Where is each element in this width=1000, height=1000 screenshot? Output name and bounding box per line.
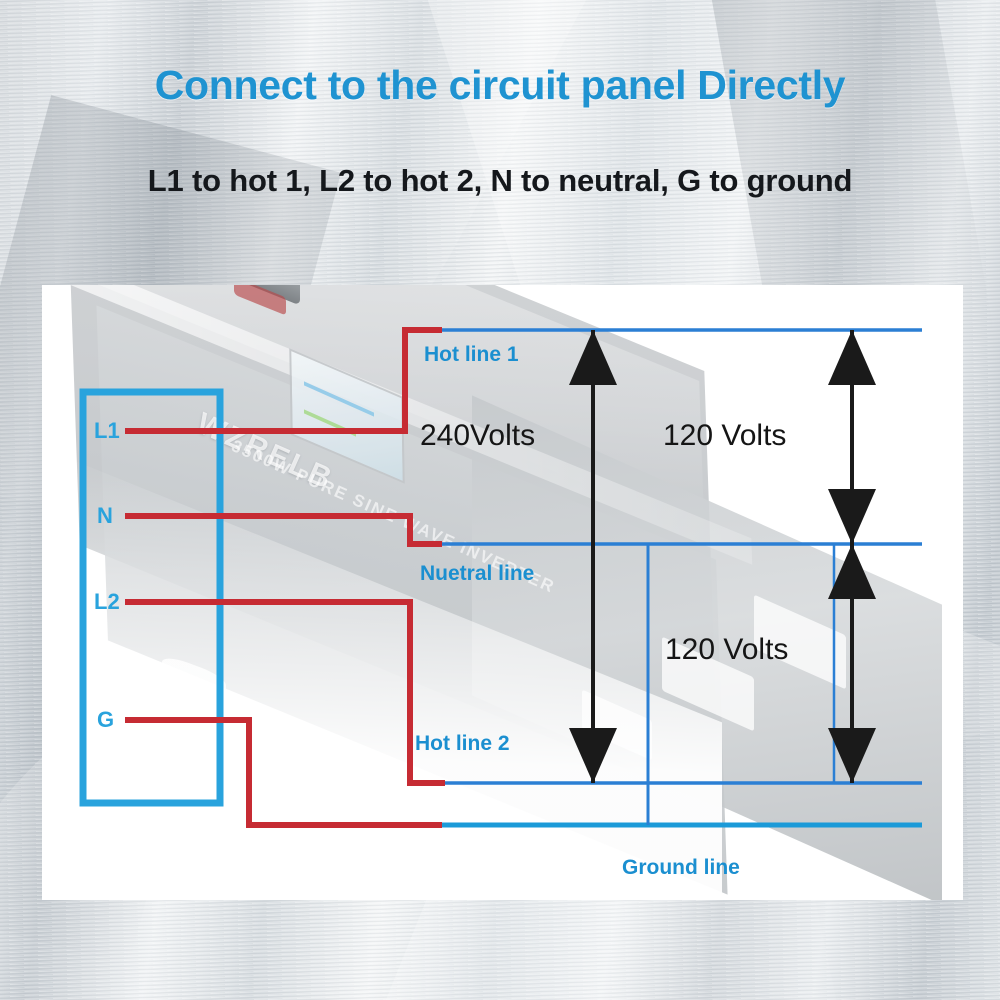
- wiring-diagram: [42, 285, 963, 900]
- terminal-label-l2: L2: [94, 589, 120, 615]
- wire-g-to-ground: [125, 720, 442, 825]
- arrow-120v-upper-head-top: [828, 330, 876, 385]
- terminal-label-n: N: [97, 503, 113, 529]
- label-neutral-line: Nuetral line: [420, 562, 534, 586]
- wire-l2-to-hot2: [125, 602, 445, 783]
- arrow-240v-head-bottom: [569, 728, 617, 783]
- measurement-120-volts-lower: 120 Volts: [665, 633, 788, 667]
- page-subtitle: L1 to hot 1, L2 to hot 2, N to neutral, …: [0, 163, 1000, 199]
- label-hot-line-2: Hot line 2: [415, 732, 510, 756]
- arrow-240v-head-top: [569, 330, 617, 385]
- label-ground-line: Ground line: [622, 856, 740, 880]
- arrow-120v-upper-head-bottom: [828, 489, 876, 544]
- terminal-label-l1: L1: [94, 418, 120, 444]
- screenshot-root: Connect to the circuit panel Directly L1…: [0, 0, 1000, 1000]
- measurement-120-volts-upper: 120 Volts: [663, 419, 786, 453]
- page-title: Connect to the circuit panel Directly: [0, 62, 1000, 109]
- wire-l1-to-hot1: [125, 330, 442, 431]
- label-hot-line-1: Hot line 1: [424, 343, 519, 367]
- measurement-240-volts: 240Volts: [420, 419, 535, 453]
- wire-n-to-neutral: [125, 516, 442, 544]
- terminal-label-g: G: [97, 707, 114, 733]
- diagram-panel: WZRELB 3500W PURE SINE WAVE INVERTER: [42, 285, 963, 900]
